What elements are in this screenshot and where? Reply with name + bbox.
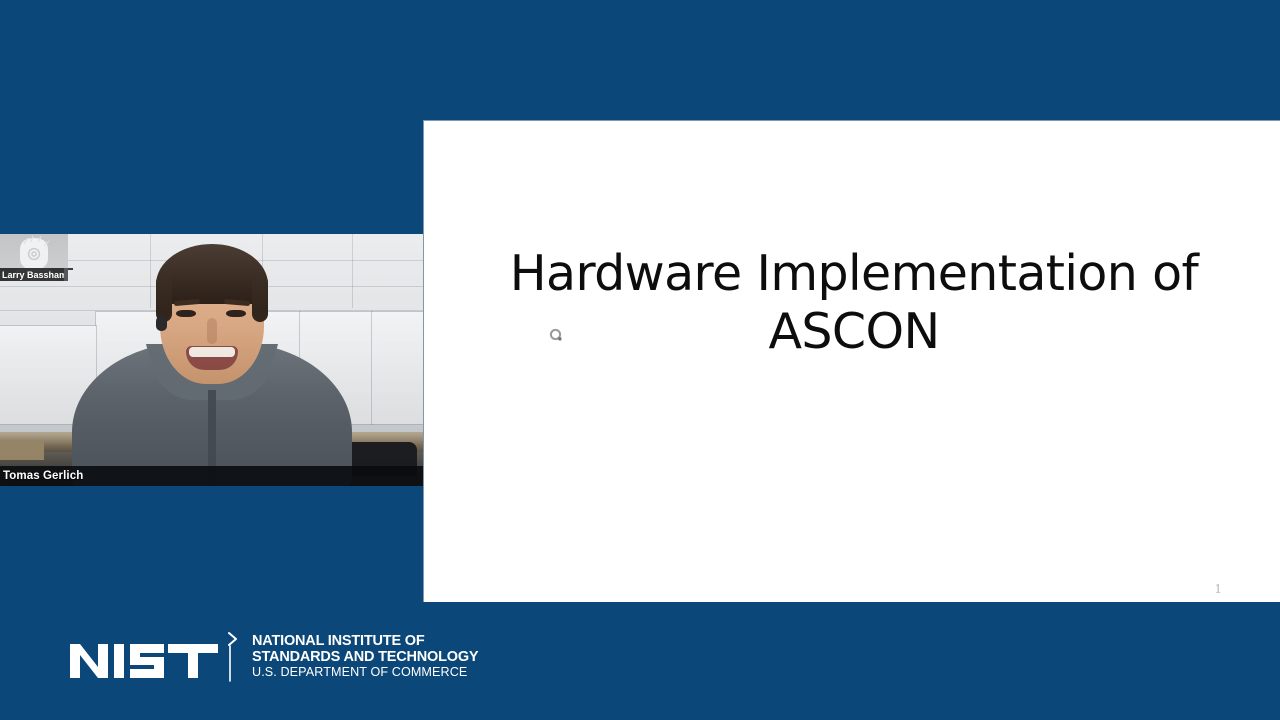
nist-wordmark-icon — [68, 634, 220, 680]
nist-logo: NATIONAL INSTITUTE OF STANDARDS AND TECH… — [68, 628, 478, 686]
active-speaker-name: Tomas Gerlich — [0, 470, 83, 482]
logo-line-2: STANDARDS AND TECHNOLOGY — [252, 650, 478, 665]
logo-line-3: U.S. DEPARTMENT OF COMMERCE — [252, 666, 478, 679]
logo-divider — [228, 631, 240, 683]
video-tile-pip[interactable]: Larry Bassham — [0, 234, 68, 281]
slide-page-number: 1 — [1214, 582, 1222, 596]
presentation-stage: Hardware Implementation of ASCON 1 — [0, 0, 1280, 720]
pip-corner-marker — [64, 268, 68, 281]
pip-name-bar: Larry Bassham — [0, 268, 64, 281]
video-name-bar: Tomas Gerlich — [0, 466, 423, 486]
pip-participant-name: Larry Bassham — [0, 270, 67, 280]
logo-line-1: NATIONAL INSTITUTE OF — [252, 634, 478, 649]
video-tile-active-speaker[interactable]: Larry Bassham Tomas Gerlich — [0, 234, 423, 486]
nist-lockup-text: NATIONAL INSTITUTE OF STANDARDS AND TECH… — [252, 634, 478, 679]
slide-title: Hardware Implementation of ASCON — [484, 245, 1224, 361]
slide-canvas: Hardware Implementation of ASCON 1 — [423, 120, 1280, 602]
